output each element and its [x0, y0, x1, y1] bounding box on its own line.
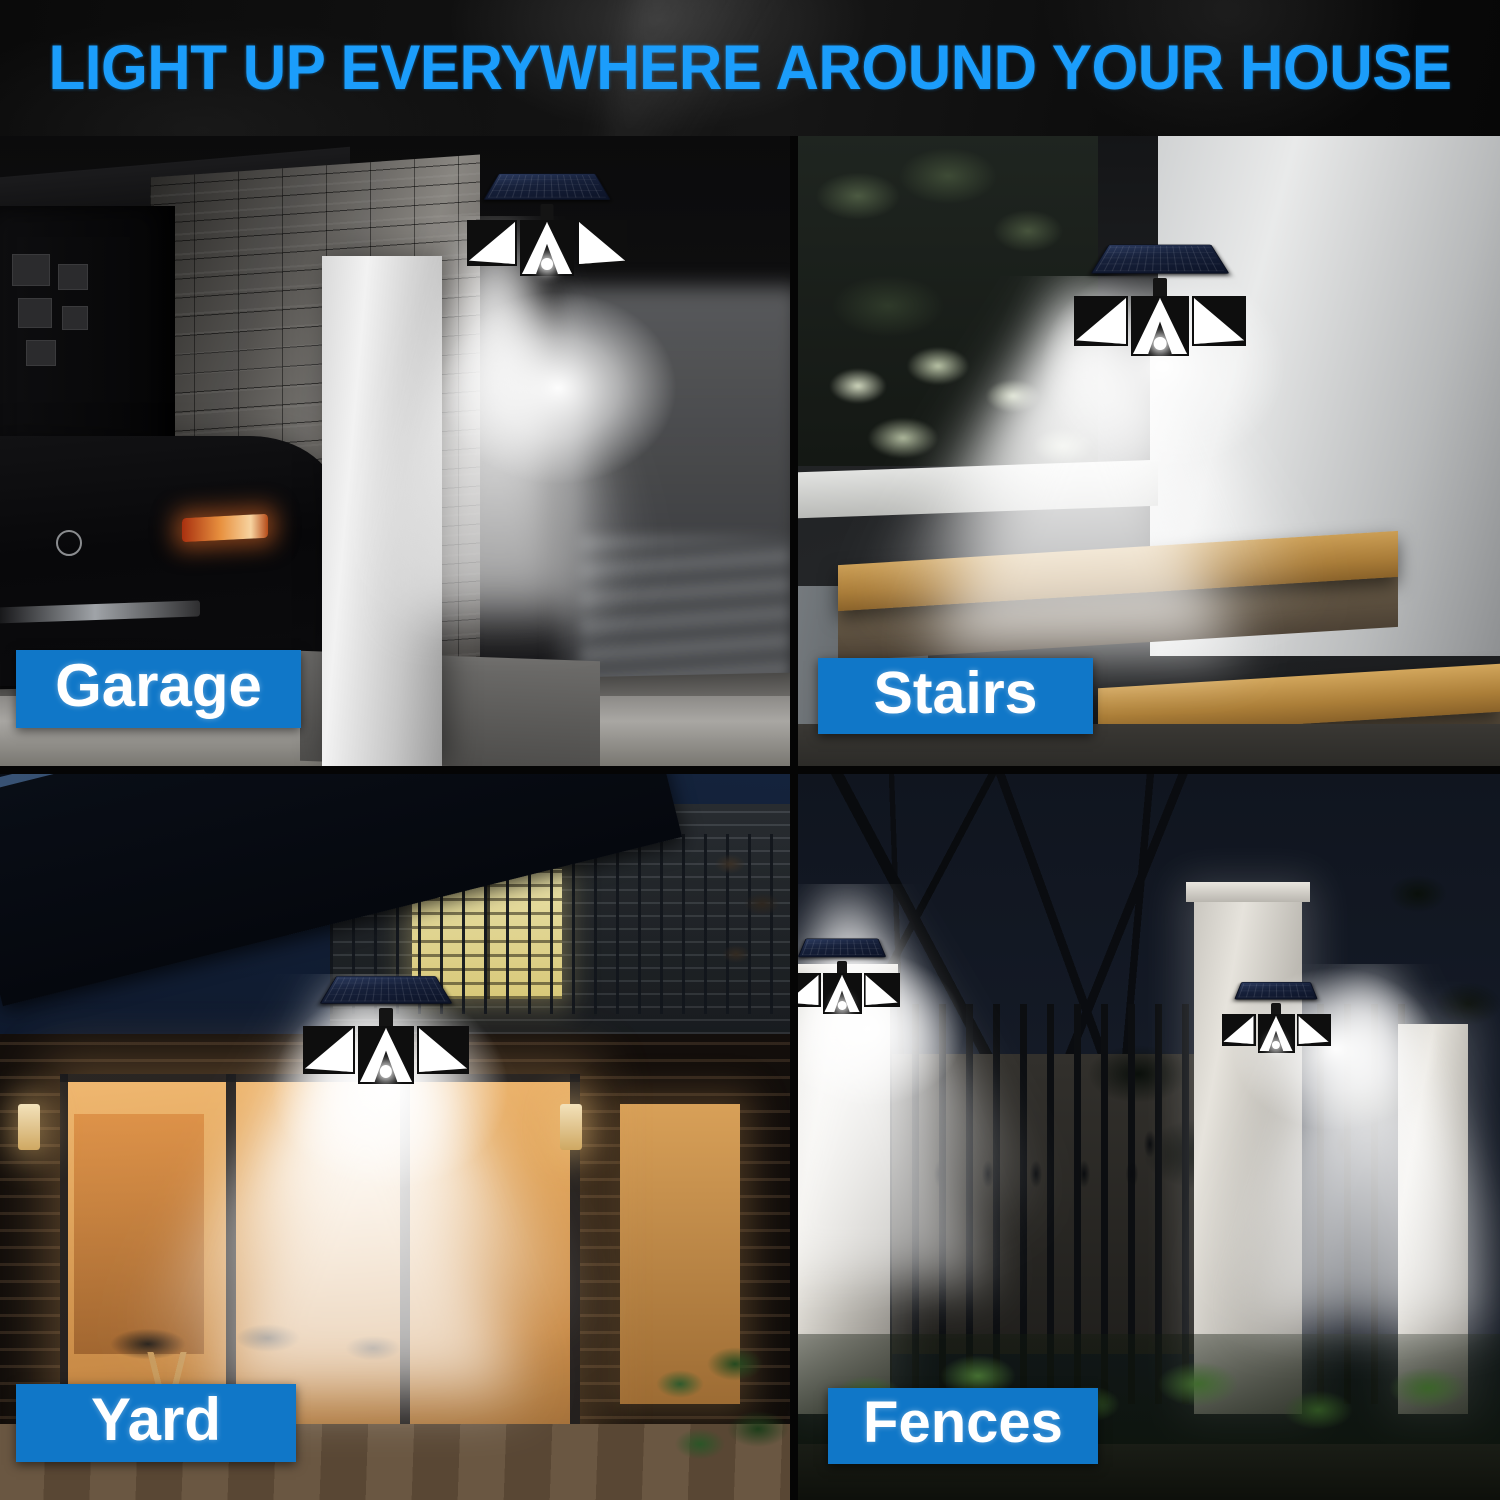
badge-garage: Garage [16, 650, 301, 728]
solar-light-fixture-fences-1 [798, 932, 904, 1024]
led-head-center [358, 1026, 414, 1084]
led-head-left [303, 1026, 355, 1074]
led-head-group [1070, 296, 1250, 360]
led-head-group [798, 973, 904, 1017]
led-head-right [1297, 1014, 1331, 1046]
header-banner: LIGHT UP EVERYWHERE AROUND YOUR HOUSE [0, 0, 1500, 136]
badge-fences: Fences [828, 1388, 1098, 1464]
solar-light-fixture-garage [462, 164, 632, 284]
led-head-left [467, 220, 517, 266]
led-head-right [577, 220, 627, 266]
car-taillight [182, 514, 268, 543]
car-emblem-icon [56, 530, 82, 556]
badge-yard-label: Yard [91, 1390, 221, 1450]
led-head-left [798, 973, 821, 1007]
panel-garage: Garage [0, 136, 790, 766]
led-head-right [417, 1026, 469, 1074]
solar-panel-icon [798, 939, 886, 958]
led-head-group [462, 220, 632, 280]
wall-sconce-right [560, 1104, 582, 1150]
solar-panel-icon [1091, 245, 1230, 274]
panel-yard: Yard [0, 774, 790, 1500]
led-head-group [1218, 1014, 1334, 1056]
solar-light-fixture-fences-2 [1218, 976, 1334, 1064]
solar-panel-icon [483, 174, 611, 200]
led-head-right [1192, 296, 1246, 346]
led-head-center [1258, 1014, 1295, 1053]
car-silhouette [0, 436, 340, 686]
solar-panel-icon [1234, 982, 1318, 999]
solar-panel-icon [319, 976, 452, 1004]
page-title: LIGHT UP EVERYWHERE AROUND YOUR HOUSE [34, 0, 1467, 136]
badge-yard: Yard [16, 1384, 296, 1462]
panel-stairs: Stairs [798, 136, 1500, 766]
panel-fences: Fences [798, 774, 1500, 1500]
led-head-left [1074, 296, 1128, 346]
solar-light-fixture-stairs [1070, 234, 1250, 364]
fence-post-cap-mid [1186, 882, 1310, 902]
badge-stairs: Stairs [818, 658, 1093, 734]
wall-sconce-left [18, 1104, 40, 1150]
badge-fences-label: Fences [863, 1394, 1063, 1452]
solar-light-fixture-yard [298, 966, 474, 1094]
led-head-center [1131, 296, 1189, 356]
scene-grid: Garage [0, 136, 1500, 1500]
garage-pillar [322, 256, 442, 766]
yard-shrub [640, 1334, 790, 1500]
led-head-left [1222, 1014, 1256, 1046]
balcony-plant [700, 834, 790, 1034]
wall-panels [12, 254, 132, 374]
led-head-right [864, 973, 900, 1007]
led-head-group [298, 1026, 474, 1088]
badge-garage-label: Garage [55, 656, 262, 716]
led-head-center [520, 220, 574, 276]
led-head-center [823, 973, 862, 1014]
badge-stairs-label: Stairs [874, 664, 1038, 723]
product-poster: LIGHT UP EVERYWHERE AROUND YOUR HOUSE [0, 0, 1500, 1500]
